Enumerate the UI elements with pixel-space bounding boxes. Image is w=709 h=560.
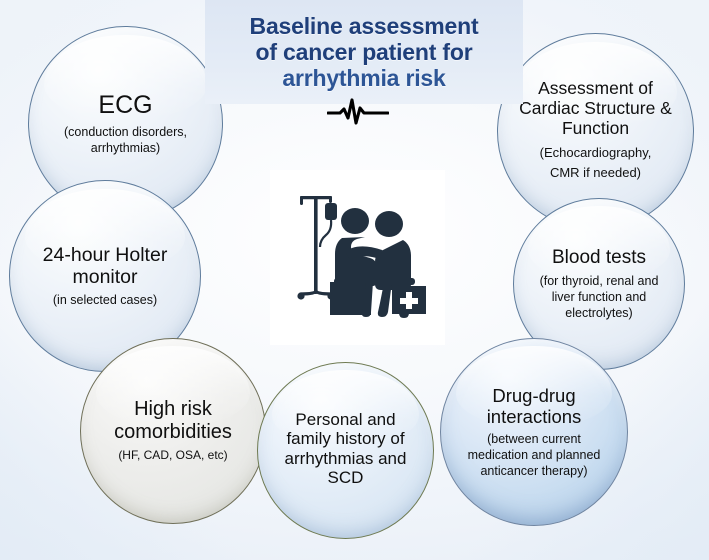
diagram-canvas: ECG (conduction disorders, arrhythmias) … bbox=[0, 0, 709, 560]
title-panel: Baseline assessment of cancer patient fo… bbox=[205, 0, 523, 104]
bubble-personal-family-history-heading: Personal and family history of arrhythmi… bbox=[271, 410, 420, 488]
bubble-cardiac-assessment-subtext: (Echocardiography, CMR if needed) bbox=[511, 143, 680, 183]
page-title: Baseline assessment of cancer patient fo… bbox=[244, 13, 485, 91]
heartbeat-waveform-icon bbox=[327, 96, 389, 126]
bubble-high-risk-heading: High risk comorbidities bbox=[94, 398, 252, 444]
bubble-holter-subtext: (in selected cases) bbox=[23, 292, 187, 308]
title-line-3: arrhythmia risk bbox=[250, 65, 479, 91]
bubble-drug-drug-subtext: (between current medication and planned … bbox=[454, 431, 614, 480]
bubble-high-risk-comorbidities: High risk comorbidities (HF, CAD, OSA, e… bbox=[80, 338, 266, 524]
bubble-cardiac-assessment-heading: Assessment of Cardiac Structure & Functi… bbox=[511, 79, 680, 139]
title-line-2: of cancer patient for bbox=[250, 39, 479, 65]
bubble-high-risk-content: High risk comorbidities (HF, CAD, OSA, e… bbox=[81, 398, 265, 463]
bubble-high-risk-subtext: (HF, CAD, OSA, etc) bbox=[94, 448, 252, 464]
bubble-personal-family-history: Personal and family history of arrhythmi… bbox=[257, 362, 434, 539]
bubble-drug-drug-interactions: Drug-drug interactions (between current … bbox=[440, 338, 628, 526]
patient-with-iv-drip-and-caregiver-icon bbox=[270, 170, 445, 345]
bubble-drug-drug-content: Drug-drug interactions (between current … bbox=[441, 385, 627, 480]
bubble-blood-tests-content: Blood tests (for thyroid, renal and live… bbox=[514, 247, 684, 321]
bubble-ecg-heading: ECG bbox=[42, 91, 209, 120]
bubble-holter-heading: 24-hour Holter monitor bbox=[23, 244, 187, 288]
bubble-blood-tests-subtext: (for thyroid, renal and liver function a… bbox=[527, 273, 671, 321]
bubble-holter-content: 24-hour Holter monitor (in selected case… bbox=[10, 244, 200, 309]
bubble-cardiac-assessment-content: Assessment of Cardiac Structure & Functi… bbox=[498, 79, 693, 183]
bubble-personal-family-history-content: Personal and family history of arrhythmi… bbox=[258, 410, 433, 492]
bubble-ecg-subtext: (conduction disorders, arrhythmias) bbox=[42, 124, 209, 157]
bubble-ecg-content: ECG (conduction disorders, arrhythmias) bbox=[29, 91, 222, 156]
title-line-1: Baseline assessment bbox=[250, 13, 479, 39]
bubble-blood-tests-heading: Blood tests bbox=[527, 247, 671, 269]
center-image-card bbox=[270, 170, 445, 345]
bubble-drug-drug-heading: Drug-drug interactions bbox=[454, 385, 614, 427]
